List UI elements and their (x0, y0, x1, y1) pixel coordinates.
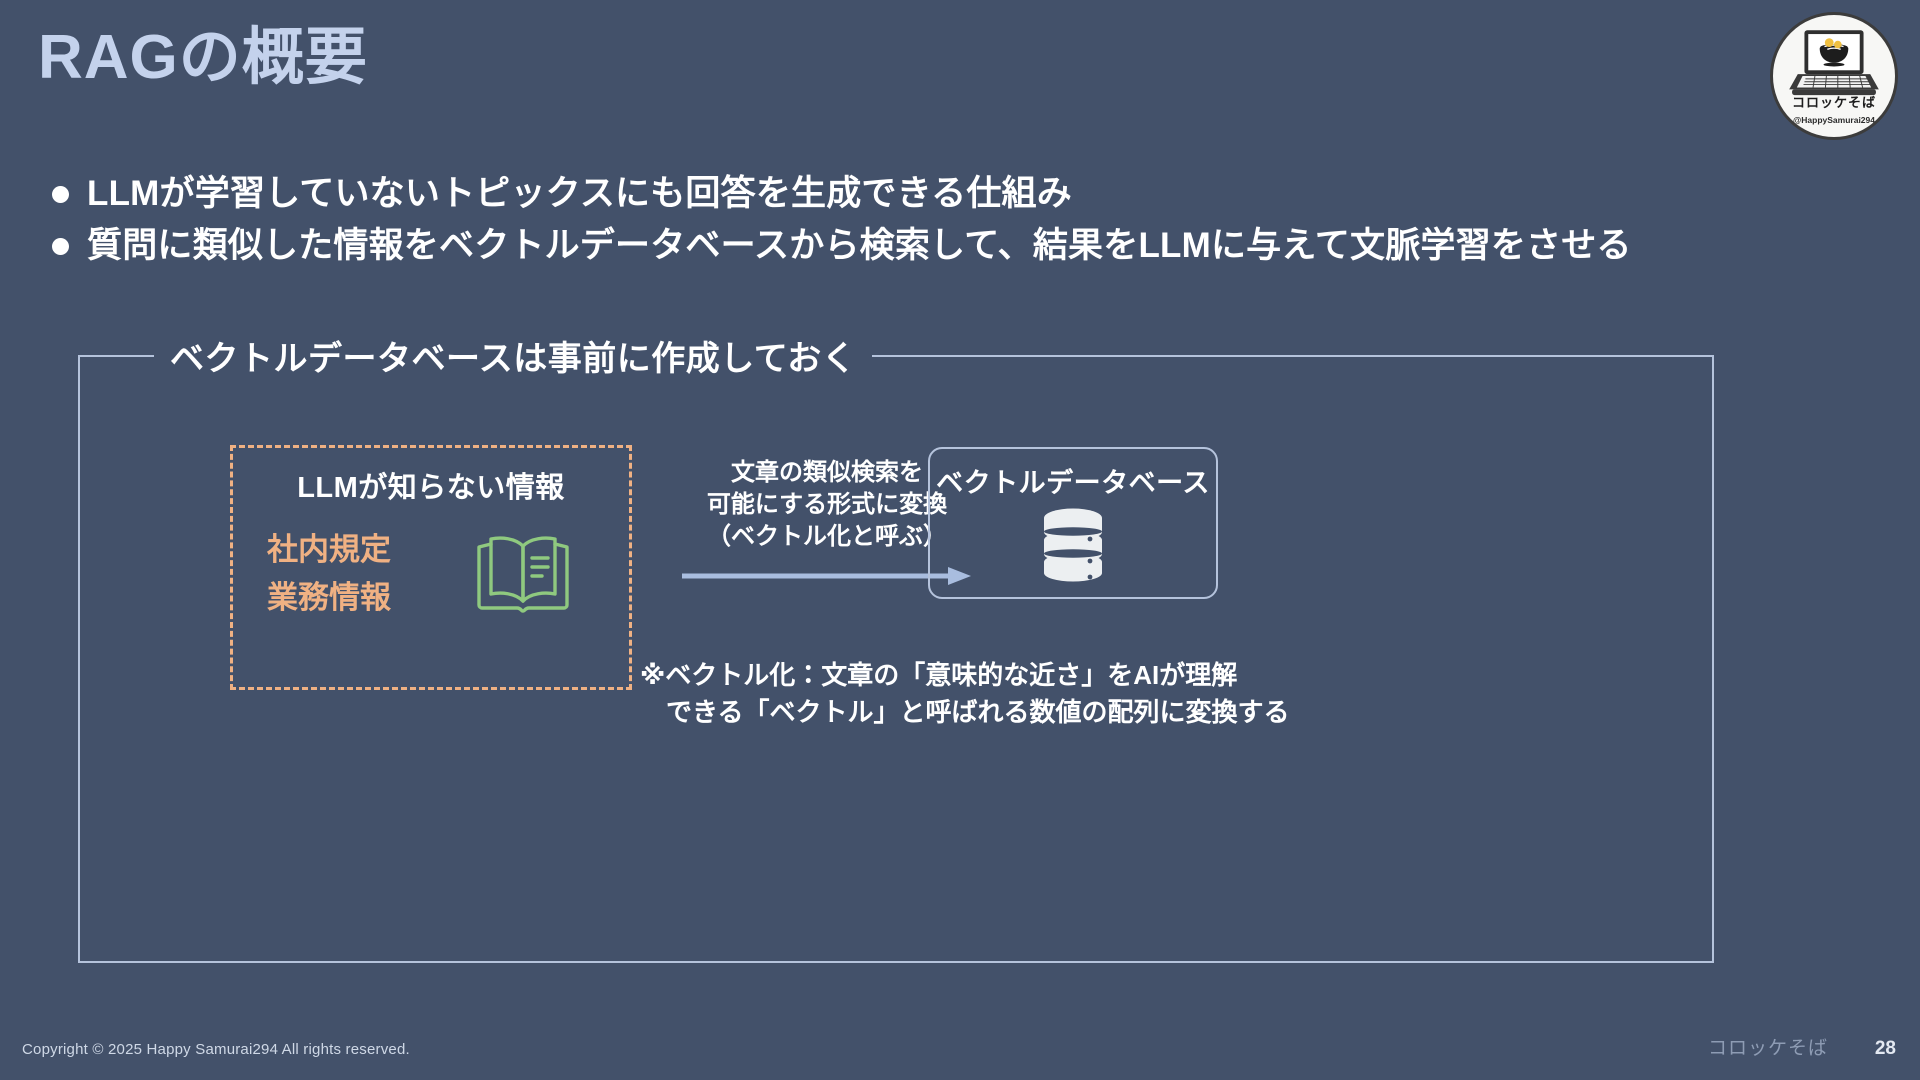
diagram-panel: ベクトルデータベースは事前に作成しておく LLMが知らない情報 社内規定 業務情… (78, 355, 1714, 963)
list-item: LLMが学習していないトピックスにも回答を生成できる仕組み (52, 172, 1882, 216)
brand-logo: コロッケそば @HappySamurai294 (1770, 12, 1898, 140)
logo-handle: @HappySamurai294 (1773, 115, 1895, 125)
bullet-dot-icon (52, 186, 69, 203)
vector-database-box: ベクトルデータベース (928, 447, 1218, 599)
source-box-items: 社内規定 業務情報 (267, 526, 391, 622)
source-data-box: LLMが知らない情報 社内規定 業務情報 (230, 445, 632, 690)
footnote: ※ベクトル化：文章の「意味的な近さ」をAIが理解 できる「ベクトル」と呼ばれる数… (640, 657, 1289, 731)
bullet-list: LLMが学習していないトピックスにも回答を生成できる仕組み 質問に類似した情報を… (52, 172, 1882, 276)
bullet-text: 質問に類似した情報をベクトルデータベースから検索して、結果をLLMに与えて文脈学… (87, 224, 1632, 268)
page-title: RAGの概要 (38, 22, 368, 93)
open-book-icon (471, 528, 575, 614)
footer-brand: コロッケそば (1708, 1033, 1828, 1060)
source-box-title: LLMが知らない情報 (233, 464, 629, 506)
page-number: 28 (1875, 1038, 1896, 1060)
footer-copyright: Copyright © 2025 Happy Samurai294 All ri… (22, 1041, 410, 1058)
source-item: 社内規定 (267, 526, 391, 574)
panel-legend: ベクトルデータベースは事前に作成しておく (154, 331, 872, 380)
footnote-line2: できる「ベクトル」と呼ばれる数値の配列に変換する (640, 694, 1289, 731)
bullet-dot-icon (52, 238, 69, 255)
bullet-text: LLMが学習していないトピックスにも回答を生成できる仕組み (87, 172, 1072, 216)
list-item: 質問に類似した情報をベクトルデータベースから検索して、結果をLLMに与えて文脈学… (52, 224, 1882, 268)
logo-caption: コロッケそば (1773, 92, 1895, 111)
database-cylinder-icon (1042, 507, 1104, 583)
db-box-title: ベクトルデータベース (930, 461, 1216, 500)
footnote-line1: ※ベクトル化：文章の「意味的な近さ」をAIが理解 (640, 657, 1289, 694)
slide-canvas: RAGの概要 (0, 0, 1920, 1080)
source-item: 業務情報 (267, 574, 391, 622)
